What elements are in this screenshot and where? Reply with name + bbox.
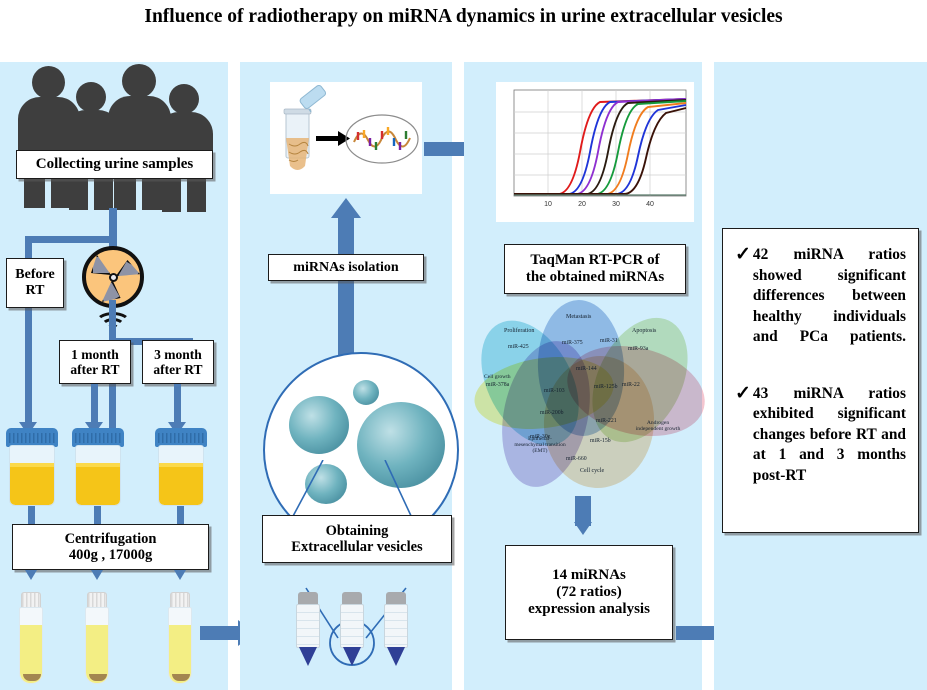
centrifugation-box: Centrifugation 400g , 17000g: [12, 524, 209, 570]
venn-mirna-label: miR-425: [508, 344, 529, 350]
venn-mirna-label: miR-31: [600, 338, 618, 344]
svg-text:10: 10: [544, 201, 552, 208]
test-tube-icon: [19, 592, 43, 684]
flow-line: [25, 236, 117, 243]
venn-mirna-label: miR-15b: [590, 438, 611, 444]
arrow-down-icon: [91, 570, 103, 580]
urine-cup-icon: [155, 428, 207, 506]
venn-mirna-label: miR-144: [576, 366, 597, 372]
flow-line: [338, 218, 354, 370]
venn-mirna-label: miR-125b: [594, 384, 618, 390]
finding-item: ✓ 42 miRNA ratios showed significant dif…: [735, 245, 906, 348]
finding-text: 43 miRNA ratios exhibited significant ch…: [753, 384, 906, 487]
four-people-silhouette-icon: [12, 64, 217, 214]
vesicle-icon: [353, 380, 379, 405]
radiation-hazard-icon: [82, 246, 144, 308]
venn-label-cell-cycle: Cell cycle: [580, 468, 604, 474]
eppendorf-tube-icon: [383, 592, 409, 666]
arrow-down-icon: [574, 522, 592, 535]
timepoint-box-3-month: 3 month after RT: [142, 340, 214, 384]
taqman-rtpcr-box: TaqMan RT-PCR of the obtained miRNAs: [504, 244, 686, 294]
check-icon: ✓: [735, 245, 751, 264]
flow-line: [94, 506, 101, 526]
venn-label-androgen-independent-growth: Androgen independent growth: [634, 420, 682, 432]
eppendorf-tube-icon: [295, 592, 321, 666]
venn-label-apoptosis: Apoptosis: [632, 328, 656, 334]
obtaining-ev-box: Obtaining Extracellular vesicles: [262, 515, 452, 563]
venn-mirna-label: miR-660: [566, 456, 587, 462]
venn-mirna-label: miR-103: [544, 388, 565, 394]
venn-mirna-label: miR-30e: [530, 434, 550, 440]
venn-mirna-label: miR-93a: [628, 346, 648, 352]
check-icon: ✓: [735, 384, 751, 403]
finding-text: 42 miRNA ratios showed significant diffe…: [753, 245, 906, 348]
venn-label-proliferation: Proliferation: [504, 328, 534, 334]
timepoint-box-1-month: 1 month after RT: [59, 340, 131, 384]
test-tube-icon: [85, 592, 109, 684]
vesicle-icon: [289, 396, 349, 454]
venn-mirna-label: miR-22: [622, 382, 640, 388]
timepoint-box-before-rt: Before RT: [6, 258, 64, 308]
flow-line: [28, 506, 35, 526]
venn-mirna-label: miR-200b: [540, 410, 564, 416]
arrow-down-icon: [25, 570, 37, 580]
test-tube-icon: [168, 592, 192, 684]
venn-diagram-mirna-functions: Proliferation Metastasis Apoptosis Cell …: [482, 298, 702, 493]
collecting-urine-samples-box: Collecting urine samples: [16, 150, 213, 179]
tube-to-rna-illustration: [270, 82, 422, 194]
flow-line: [174, 384, 181, 424]
arrow-up-icon: [331, 198, 361, 218]
qpcr-amplification-plot: 10 20 30 40: [496, 82, 694, 222]
svg-text:30: 30: [612, 201, 620, 208]
venn-mirna-label: miR-375: [562, 340, 583, 346]
svg-text:40: 40: [646, 201, 654, 208]
urine-cup-icon: [72, 428, 124, 506]
eppendorf-tube-icon: [339, 592, 365, 666]
arrow-down-icon: [174, 570, 186, 580]
urine-cup-icon: [6, 428, 58, 506]
page-title: Influence of radiotherapy on miRNA dynam…: [0, 4, 927, 29]
venn-mirna-label: miR-221: [596, 418, 617, 424]
key-findings-box: ✓ 42 miRNA ratios showed significant dif…: [722, 228, 919, 533]
finding-item: ✓ 43 miRNA ratios exhibited significant …: [735, 384, 906, 487]
flow-line: [91, 384, 98, 424]
venn-label-metastasis: Metastasis: [566, 314, 591, 320]
venn-mirna-label: miR-378a: [486, 382, 509, 388]
venn-label-cell-growth: Cell growth: [484, 374, 511, 380]
mirnas-isolation-box: miRNAs isolation: [268, 254, 424, 281]
expression-analysis-box: 14 miRNAs (72 ratios) expression analysi…: [505, 545, 673, 640]
flow-line: [177, 506, 184, 526]
svg-text:20: 20: [578, 201, 586, 208]
